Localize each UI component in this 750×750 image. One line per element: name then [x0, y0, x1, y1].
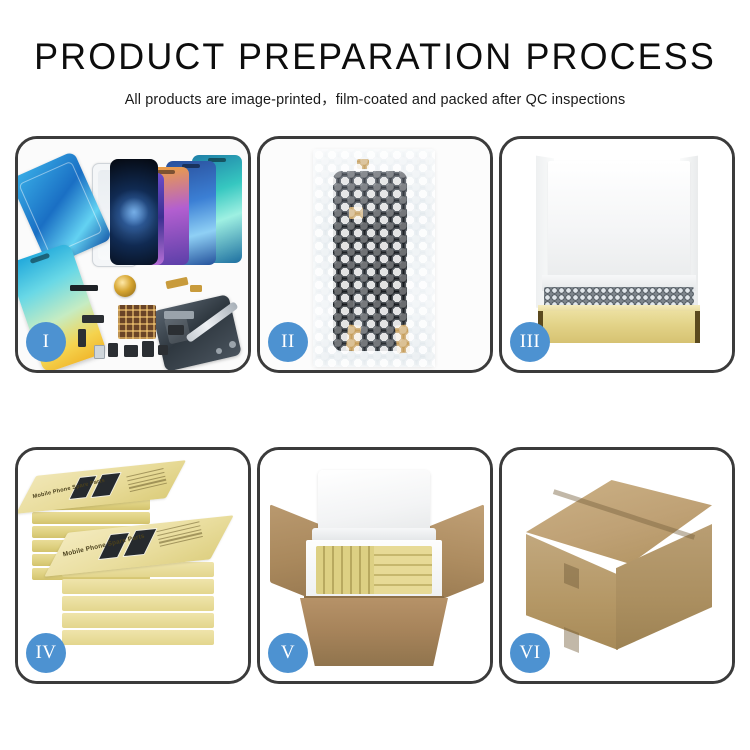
- white-foam-sheet: [548, 161, 690, 289]
- module-c: [124, 345, 138, 357]
- front-stack-box-2: [62, 579, 214, 594]
- step-badge-5: V: [268, 633, 308, 673]
- module-d: [142, 341, 154, 357]
- foam-lid: [318, 470, 430, 536]
- packed-yellow-boxes: [316, 546, 432, 594]
- page-header: PRODUCT PREPARATION PROCESS All products…: [0, 0, 750, 109]
- connector-strip: [70, 285, 98, 291]
- process-step-grid: I II: [15, 136, 735, 684]
- page-subtitle: All products are image-printed，film-coat…: [0, 88, 750, 109]
- phone-dark-display: [110, 159, 158, 265]
- back-stack-box-2: [32, 512, 150, 524]
- step-badge-1: I: [26, 322, 66, 362]
- module-e: [158, 345, 168, 355]
- front-stack-box-3: [62, 596, 214, 611]
- process-step-2[interactable]: II: [257, 136, 493, 373]
- small-board-a: [82, 315, 104, 323]
- module-b: [108, 343, 118, 357]
- yellow-box-front: [538, 311, 700, 343]
- process-step-4[interactable]: Mobile Phone Spare Parts Mobile Phone Sp…: [15, 447, 251, 684]
- process-step-1[interactable]: I: [15, 136, 251, 373]
- front-stack-box-5: [62, 630, 214, 645]
- carton-body: [300, 598, 448, 666]
- gold-contact: [190, 285, 202, 292]
- gold-coil-component: [114, 275, 136, 297]
- sim-tray: [94, 345, 105, 359]
- step-badge-4: IV: [26, 633, 66, 673]
- process-step-3[interactable]: III: [499, 136, 735, 373]
- screw-a: [229, 341, 236, 348]
- process-step-5[interactable]: V: [257, 447, 493, 684]
- front-stack-box-4: [62, 613, 214, 628]
- silver-bracket: [164, 311, 194, 319]
- process-step-6[interactable]: VI: [499, 447, 735, 684]
- page-title: PRODUCT PREPARATION PROCESS: [11, 38, 739, 77]
- small-board-b: [78, 329, 86, 347]
- chip-grid-component: [118, 305, 156, 339]
- screw-b: [216, 348, 222, 354]
- step-badge-3: III: [510, 322, 550, 362]
- bubble-highlight-texture: [313, 149, 435, 367]
- step-badge-6: VI: [510, 633, 550, 673]
- bubble-wrap-bag: [313, 149, 435, 367]
- module-a: [168, 325, 184, 335]
- step-badge-2: II: [268, 322, 308, 362]
